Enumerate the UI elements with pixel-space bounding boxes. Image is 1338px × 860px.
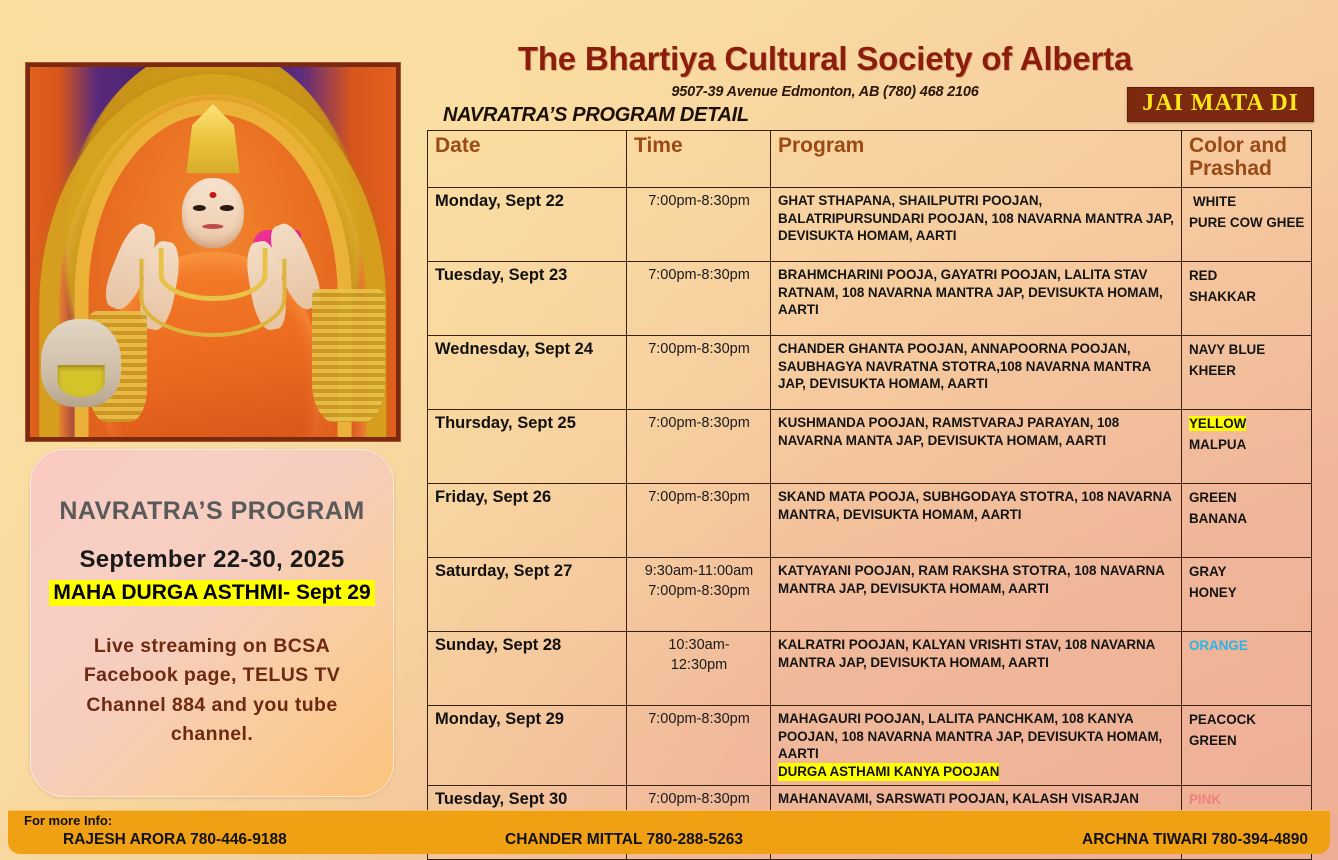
cell-color-prashad: WHITEPURE COW GHEE bbox=[1182, 188, 1312, 262]
color-label: PINK bbox=[1189, 792, 1221, 807]
table-row: Wednesday, Sept 247:00pm-8:30pmCHANDER G… bbox=[428, 336, 1312, 410]
cell-date: Wednesday, Sept 24 bbox=[428, 336, 627, 410]
cell-time: 7:00pm-8:30pm bbox=[627, 336, 771, 410]
table-row: Sunday, Sept 2810:30am-12:30pmKALRATRI P… bbox=[428, 632, 1312, 706]
durga-mata-illustration bbox=[30, 67, 396, 437]
photo-face bbox=[182, 178, 244, 248]
cell-program: MAHAGAURI POOJAN, LALITA PANCHKAM, 108 K… bbox=[771, 706, 1182, 786]
cell-time: 7:00pm-8:30pm bbox=[627, 188, 771, 262]
color-label: ORANGE bbox=[1189, 638, 1248, 653]
cell-time: 7:00pm-8:30pm bbox=[627, 410, 771, 484]
cell-color-prashad: ORANGE bbox=[1182, 632, 1312, 706]
cell-date: Friday, Sept 26 bbox=[428, 484, 627, 558]
prashad-label: HONEY bbox=[1189, 585, 1237, 600]
maha-durga-asthmi-highlight: MAHA DURGA ASTHMI- Sept 29 bbox=[49, 580, 374, 606]
color-label: NAVY BLUE bbox=[1189, 342, 1265, 357]
cell-date: Saturday, Sept 27 bbox=[428, 558, 627, 632]
cell-date: Monday, Sept 22 bbox=[428, 188, 627, 262]
cell-program: KUSHMANDA POOJAN, RAMSTVARAJ PARAYAN, 10… bbox=[771, 410, 1182, 484]
jai-mata-di-badge: JAI MATA DI bbox=[1127, 87, 1314, 122]
cell-date: Thursday, Sept 25 bbox=[428, 410, 627, 484]
cell-time: 7:00pm-8:30pm bbox=[627, 706, 771, 786]
table-row: Tuesday, Sept 237:00pm-8:30pmBRAHMCHARIN… bbox=[428, 262, 1312, 336]
table-row: Saturday, Sept 279:30am-11:00am7:00pm-8:… bbox=[428, 558, 1312, 632]
photo-bindi bbox=[210, 192, 217, 198]
prashad-label: SHAKKAR bbox=[1189, 289, 1256, 304]
table-body: Monday, Sept 227:00pm-8:30pmGHAT STHAPAN… bbox=[428, 188, 1312, 860]
cell-color-prashad: YELLOWMALPUA bbox=[1182, 410, 1312, 484]
photo-eye-left bbox=[192, 205, 206, 211]
photo-eye-right bbox=[220, 205, 234, 211]
photo-lion-mouth bbox=[58, 365, 105, 397]
prashad-label: MALPUA bbox=[1189, 437, 1246, 452]
footer-contact-3: ARCHNA TIWARI 780-394-4890 bbox=[1082, 831, 1308, 849]
column-header-color-prashad: Color and Prashad bbox=[1182, 131, 1312, 188]
info-card-dates: September 22-30, 2025 bbox=[30, 546, 394, 574]
photo-necklace-short bbox=[159, 248, 268, 301]
cell-color-prashad: GREENBANANA bbox=[1182, 484, 1312, 558]
prashad-label: PURE COW GHEE bbox=[1189, 215, 1304, 230]
table-header-row: Date Time Program Color and Prashad bbox=[428, 131, 1312, 188]
page-title: The Bhartiya Cultural Society of Alberta bbox=[430, 40, 1220, 78]
cell-time: 9:30am-11:00am7:00pm-8:30pm bbox=[627, 558, 771, 632]
cell-program: KATYAYANI POOJAN, RAM RAKSHA STOTRA, 108… bbox=[771, 558, 1182, 632]
footer-label: For more Info: bbox=[24, 813, 112, 828]
color-label: WHITE bbox=[1189, 194, 1236, 209]
cell-program: GHAT STHAPANA, SHAILPUTRI POOJAN, BALATR… bbox=[771, 188, 1182, 262]
table-row: Thursday, Sept 257:00pm-8:30pmKUSHMANDA … bbox=[428, 410, 1312, 484]
color-label: GREEN bbox=[1189, 490, 1237, 505]
prashad-label: KHEER bbox=[1189, 363, 1236, 378]
program-info-card: NAVRATRA’S PROGRAM September 22-30, 2025… bbox=[30, 449, 394, 797]
table-row: Friday, Sept 267:00pm-8:30pmSKAND MATA P… bbox=[428, 484, 1312, 558]
table-row: Monday, Sept 297:00pm-8:30pmMAHAGAURI PO… bbox=[428, 706, 1312, 786]
cell-program: SKAND MATA POOJA, SUBHGODAYA STOTRA, 108… bbox=[771, 484, 1182, 558]
cell-color-prashad: PEACOCK GREEN bbox=[1182, 706, 1312, 786]
column-header-time: Time bbox=[627, 131, 771, 188]
cell-color-prashad: REDSHAKKAR bbox=[1182, 262, 1312, 336]
info-card-streaming-note: Live streaming on BCSA Facebook page, TE… bbox=[60, 632, 364, 749]
photo-gold-ornament-right bbox=[312, 289, 385, 422]
org-address: 9507-39 Avenue Edmonton, AB (780) 468 21… bbox=[430, 84, 1220, 100]
durga-mata-photo bbox=[26, 63, 400, 441]
cell-program: BRAHMCHARINI POOJA, GAYATRI POOJAN, LALI… bbox=[771, 262, 1182, 336]
cell-time: 7:00pm-8:30pm bbox=[627, 484, 771, 558]
cell-date: Tuesday, Sept 23 bbox=[428, 262, 627, 336]
cell-program: KALRATRI POOJAN, KALYAN VRISHTI STAV, 10… bbox=[771, 632, 1182, 706]
color-label: RED bbox=[1189, 268, 1217, 283]
program-extra-highlight: DURGA ASTHAMI KANYA POOJAN bbox=[778, 763, 999, 781]
cell-time: 10:30am-12:30pm bbox=[627, 632, 771, 706]
cell-color-prashad: GRAYHONEY bbox=[1182, 558, 1312, 632]
cell-time: 7:00pm-8:30pm bbox=[627, 262, 771, 336]
column-header-program: Program bbox=[771, 131, 1182, 188]
prashad-label: BANANA bbox=[1189, 511, 1247, 526]
cell-color-prashad: NAVY BLUEKHEER bbox=[1182, 336, 1312, 410]
section-title: NAVRATRA’S PROGRAM DETAIL bbox=[443, 104, 749, 127]
info-card-title: NAVRATRA’S PROGRAM bbox=[30, 497, 394, 526]
footer-contact-1: RAJESH ARORA 780-446-9188 bbox=[63, 831, 287, 849]
color-label: GRAY bbox=[1189, 564, 1226, 579]
photo-mouth bbox=[202, 224, 223, 229]
column-header-date: Date bbox=[428, 131, 627, 188]
cell-program: CHANDER GHANTA POOJAN, ANNAPOORNA POOJAN… bbox=[771, 336, 1182, 410]
info-card-highlight-wrap: MAHA DURGA ASTHMI- Sept 29 bbox=[30, 580, 394, 606]
table-row: Monday, Sept 227:00pm-8:30pmGHAT STHAPAN… bbox=[428, 188, 1312, 262]
cell-date: Monday, Sept 29 bbox=[428, 706, 627, 786]
cell-date: Sunday, Sept 28 bbox=[428, 632, 627, 706]
navratra-program-table: Date Time Program Color and Prashad Mond… bbox=[427, 130, 1312, 860]
photo-lion bbox=[41, 319, 122, 408]
color-label: PEACOCK GREEN bbox=[1189, 712, 1256, 748]
footer-contact-bar: For more Info: RAJESH ARORA 780-446-9188… bbox=[8, 810, 1330, 854]
color-label: YELLOW bbox=[1189, 416, 1246, 431]
footer-contact-2: CHANDER MITTAL 780-288-5263 bbox=[505, 831, 743, 849]
